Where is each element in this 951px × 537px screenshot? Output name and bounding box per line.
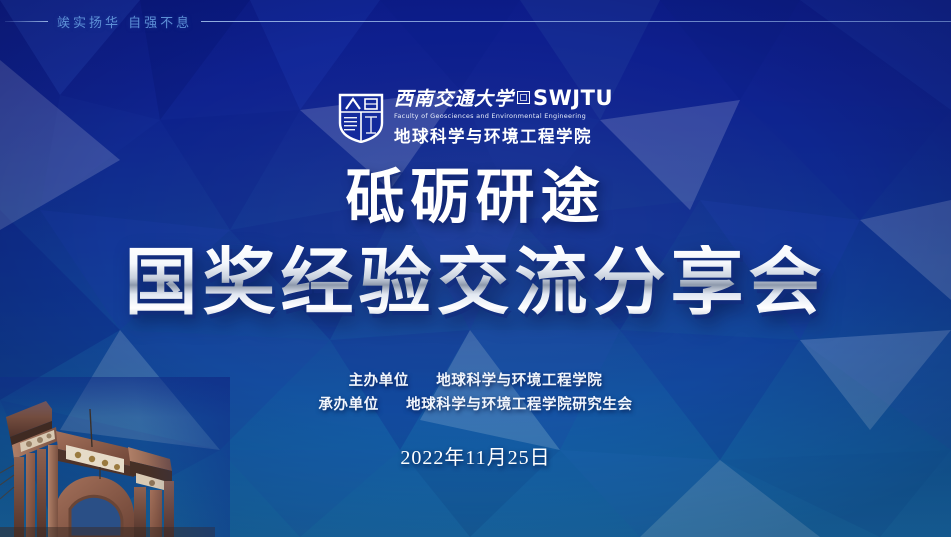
- faculty-name-cn: 地球科学与环境工程学院: [394, 123, 613, 147]
- slogan-text: 竢实扬华 自强不息: [57, 12, 192, 31]
- headline-primary: 砥砺研途: [0, 168, 951, 227]
- faculty-name-en: Faculty of Geosciences and Environmental…: [394, 112, 613, 120]
- organizer-row-host: 主办单位 地球科学与环境工程学院: [0, 369, 951, 393]
- university-name-cn: 西南交通大学: [394, 90, 514, 109]
- top-slogan-banner: 竢实扬华 自强不息: [0, 9, 951, 33]
- university-logo: 西南交通大学 SWJTU Faculty of Geosciences and …: [0, 88, 951, 147]
- organizer-name-host: 地球科学与环境工程学院: [436, 373, 602, 389]
- logo-primary-row: 西南交通大学 SWJTU: [394, 88, 613, 110]
- organizer-block: 主办单位 地球科学与环境工程学院 承办单位 地球科学与环境工程学院研究生会: [0, 369, 951, 417]
- divider-line-right: [201, 21, 951, 22]
- organizer-name-coordinator: 地球科学与环境工程学院研究生会: [406, 397, 633, 413]
- divider-line-left: [5, 21, 48, 22]
- headline-secondary: 国奖经验交流分享会: [0, 245, 951, 322]
- logo-text-block: 西南交通大学 SWJTU Faculty of Geosciences and …: [394, 88, 613, 147]
- poster-canvas: 竢实扬华 自强不息: [0, 0, 951, 537]
- organizer-role-coordinator: 承办单位: [318, 397, 378, 413]
- swjtu-shield-icon: [338, 93, 384, 143]
- event-date: 2022年11月25日: [0, 441, 951, 470]
- organizer-row-coordinator: 承办单位 地球科学与环境工程学院研究生会: [0, 393, 951, 417]
- logo-separator-icon: [517, 91, 530, 104]
- organizer-role-host: 主办单位: [349, 373, 409, 389]
- university-abbr: SWJTU: [533, 88, 613, 109]
